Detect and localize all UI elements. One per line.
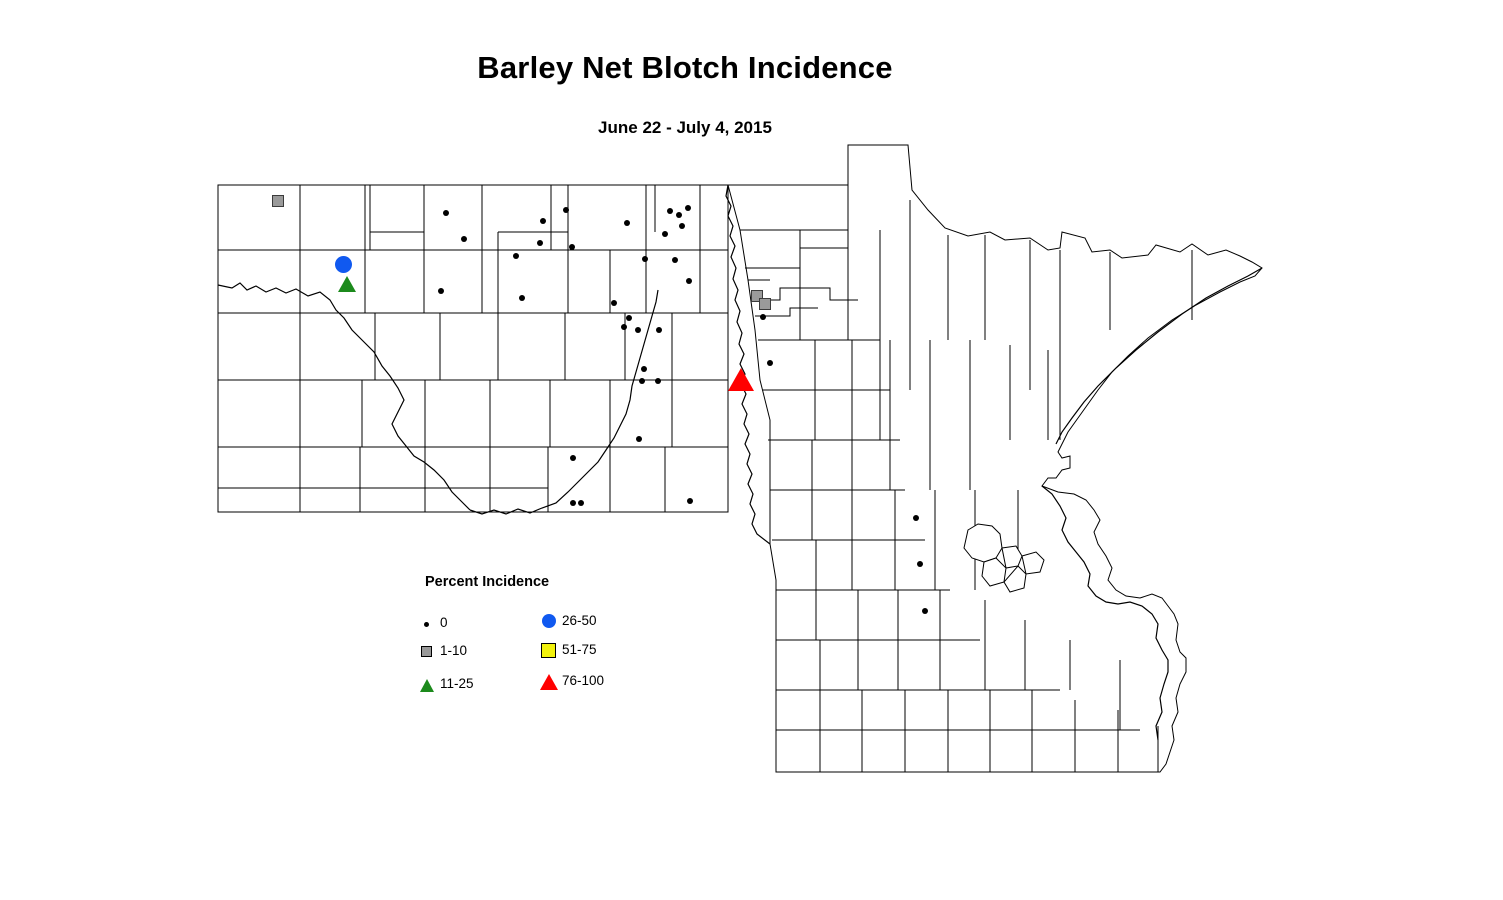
legend-title: Percent Incidence (425, 574, 549, 590)
map-marker-zero[interactable] (672, 257, 678, 263)
state-county-map (0, 0, 1503, 900)
legend: Percent Incidence 0 1-10 11-25 26-50 51-… (408, 570, 653, 705)
map-marker-zero[interactable] (922, 608, 928, 614)
map-marker-zero[interactable] (662, 231, 668, 237)
map-marker-zero[interactable] (513, 253, 519, 259)
map-marker-zero[interactable] (626, 315, 632, 321)
legend-label: 26-50 (562, 613, 597, 628)
map-marker-zero[interactable] (639, 378, 645, 384)
map-marker-zero[interactable] (686, 278, 692, 284)
map-marker-zero[interactable] (461, 236, 467, 242)
map-marker-zero[interactable] (624, 220, 630, 226)
small-black-dot-icon (418, 614, 436, 632)
map-marker-zero[interactable] (540, 218, 546, 224)
map-marker-11-25[interactable] (338, 276, 356, 292)
figure-canvas: Barley Net Blotch Incidence June 22 - Ju… (0, 0, 1503, 900)
minnesota-counties (728, 145, 1262, 772)
map-marker-zero[interactable] (917, 561, 923, 567)
green-triangle-icon (418, 675, 436, 693)
map-marker-zero[interactable] (578, 500, 584, 506)
map-marker-26-50[interactable] (335, 256, 352, 273)
yellow-square-icon (540, 641, 558, 659)
map-marker-zero[interactable] (641, 366, 647, 372)
map-marker-zero[interactable] (760, 314, 766, 320)
map-marker-zero[interactable] (676, 212, 682, 218)
map-marker-zero[interactable] (636, 436, 642, 442)
blue-circle-icon (540, 612, 558, 630)
red-triangle-icon (540, 672, 558, 690)
map-marker-zero[interactable] (438, 288, 444, 294)
map-marker-zero[interactable] (913, 515, 919, 521)
legend-label: 11-25 (440, 676, 474, 691)
map-marker-1-10[interactable] (759, 298, 771, 310)
map-marker-zero[interactable] (570, 455, 576, 461)
map-marker-76-100[interactable] (728, 368, 754, 391)
map-marker-zero[interactable] (635, 327, 641, 333)
map-marker-zero[interactable] (519, 295, 525, 301)
legend-label: 51-75 (562, 642, 597, 657)
map-marker-zero[interactable] (767, 360, 773, 366)
map-marker-zero[interactable] (563, 207, 569, 213)
gray-square-icon (418, 642, 436, 660)
map-marker-zero[interactable] (570, 500, 576, 506)
map-marker-zero[interactable] (642, 256, 648, 262)
map-marker-zero[interactable] (655, 378, 661, 384)
map-marker-zero[interactable] (443, 210, 449, 216)
legend-label: 0 (440, 615, 448, 630)
map-canvas (0, 0, 1503, 900)
map-marker-zero[interactable] (656, 327, 662, 333)
map-marker-zero[interactable] (687, 498, 693, 504)
legend-label: 76-100 (562, 673, 604, 688)
map-marker-zero[interactable] (667, 208, 673, 214)
map-marker-1-10[interactable] (272, 195, 284, 207)
map-marker-zero[interactable] (611, 300, 617, 306)
map-marker-zero[interactable] (537, 240, 543, 246)
north-dakota-counties (218, 185, 728, 514)
map-marker-zero[interactable] (679, 223, 685, 229)
map-marker-zero[interactable] (621, 324, 627, 330)
map-marker-zero[interactable] (569, 244, 575, 250)
legend-label: 1-10 (440, 643, 467, 658)
map-marker-zero[interactable] (685, 205, 691, 211)
